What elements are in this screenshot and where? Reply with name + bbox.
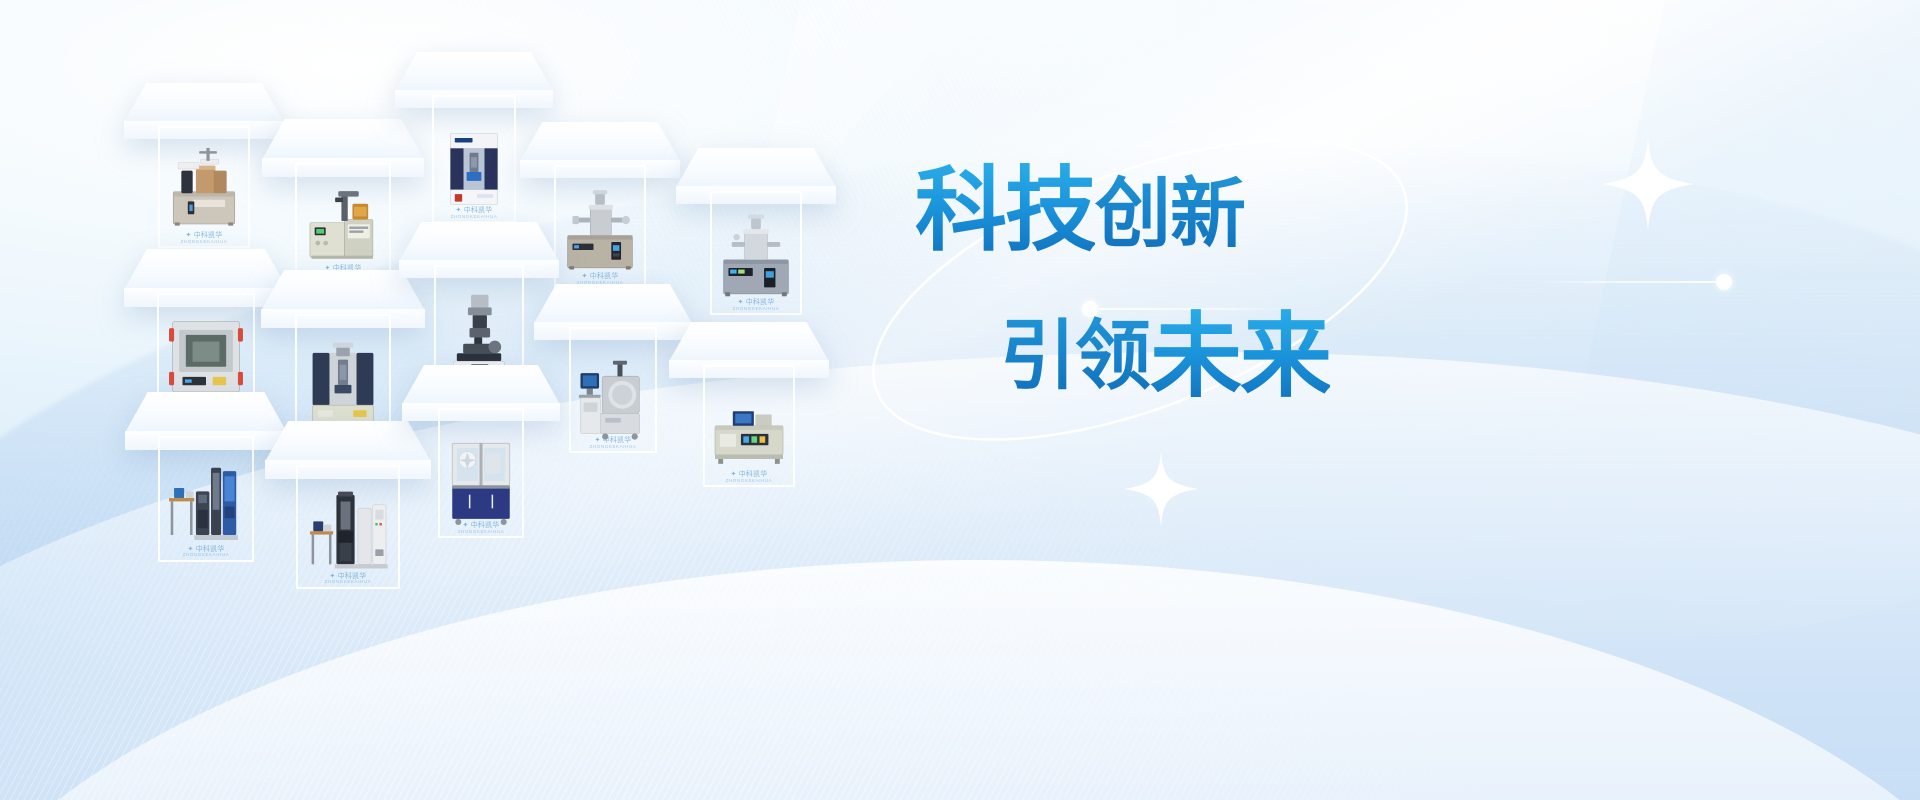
product-image — [709, 380, 790, 478]
product-image — [574, 342, 651, 443]
product-showcase-item[interactable]: ✦ 中科凯华ZHONGKEKAIHUA — [666, 322, 832, 522]
watermark-brand-en: ZHONGKEKAIHUA — [183, 553, 230, 558]
watermark-brand-en: ZHONGKEKAIHUA — [733, 307, 780, 312]
watermark-brand-en: ZHONGKEKAIHUA — [181, 240, 228, 245]
product-showcase-item[interactable]: ✦ 中科凯华ZHONGKEKAIHUA — [399, 365, 563, 573]
product-watermark: ✦ 中科凯华ZHONGKEKAIHUA — [733, 299, 780, 311]
product-watermark: ✦ 中科凯华ZHONGKEKAIHUA — [590, 437, 637, 449]
watermark-brand-en: ZHONGKEKAIHUA — [325, 580, 372, 585]
hero-banner: ✦ 中科凯华ZHONGKEKAIHUA✦ 中科凯华ZHONGKEKAIHUA✦ … — [0, 0, 1920, 800]
headline-line-2: 引领未来 — [1000, 305, 1330, 397]
product-image — [302, 480, 394, 579]
product-image — [437, 111, 511, 213]
product-image — [443, 424, 519, 528]
product-image — [164, 451, 248, 552]
watermark-brand-en: ZHONGKEKAIHUA — [451, 215, 498, 220]
watermark-brand-en: ZHONGKEKAIHUA — [458, 530, 505, 535]
headline-line2-light: 引领 — [1000, 311, 1150, 400]
product-image — [560, 180, 641, 279]
product-image — [301, 177, 385, 271]
product-showcase-item[interactable]: ✦ 中科凯华ZHONGKEKAIHUA — [673, 148, 839, 350]
watermark-brand-en: ZHONGKEKAIHUA — [726, 479, 773, 484]
product-watermark: ✦ 中科凯华ZHONGKEKAIHUA — [325, 573, 372, 585]
product-image — [716, 206, 797, 305]
watermark-brand-en: ZHONGKEKAIHUA — [590, 445, 637, 450]
product-watermark: ✦ 中科凯华ZHONGKEKAIHUA — [181, 232, 228, 244]
product-watermark: ✦ 中科凯华ZHONGKEKAIHUA — [726, 471, 773, 483]
headline-line-1: 科技创新 — [915, 165, 1245, 257]
headline-line1-strong: 科技 — [915, 157, 1095, 264]
product-image — [164, 141, 245, 239]
product-watermark: ✦ 中科凯华ZHONGKEKAIHUA — [183, 546, 230, 558]
product-watermark: ✦ 中科凯华ZHONGKEKAIHUA — [458, 522, 505, 534]
headline-line1-light: 创新 — [1095, 169, 1245, 258]
hero-headline: 科技创新 引领未来 — [900, 165, 1460, 445]
product-watermark: ✦ 中科凯华ZHONGKEKAIHUA — [451, 207, 498, 219]
headline-line2-strong: 未来 — [1150, 303, 1330, 410]
